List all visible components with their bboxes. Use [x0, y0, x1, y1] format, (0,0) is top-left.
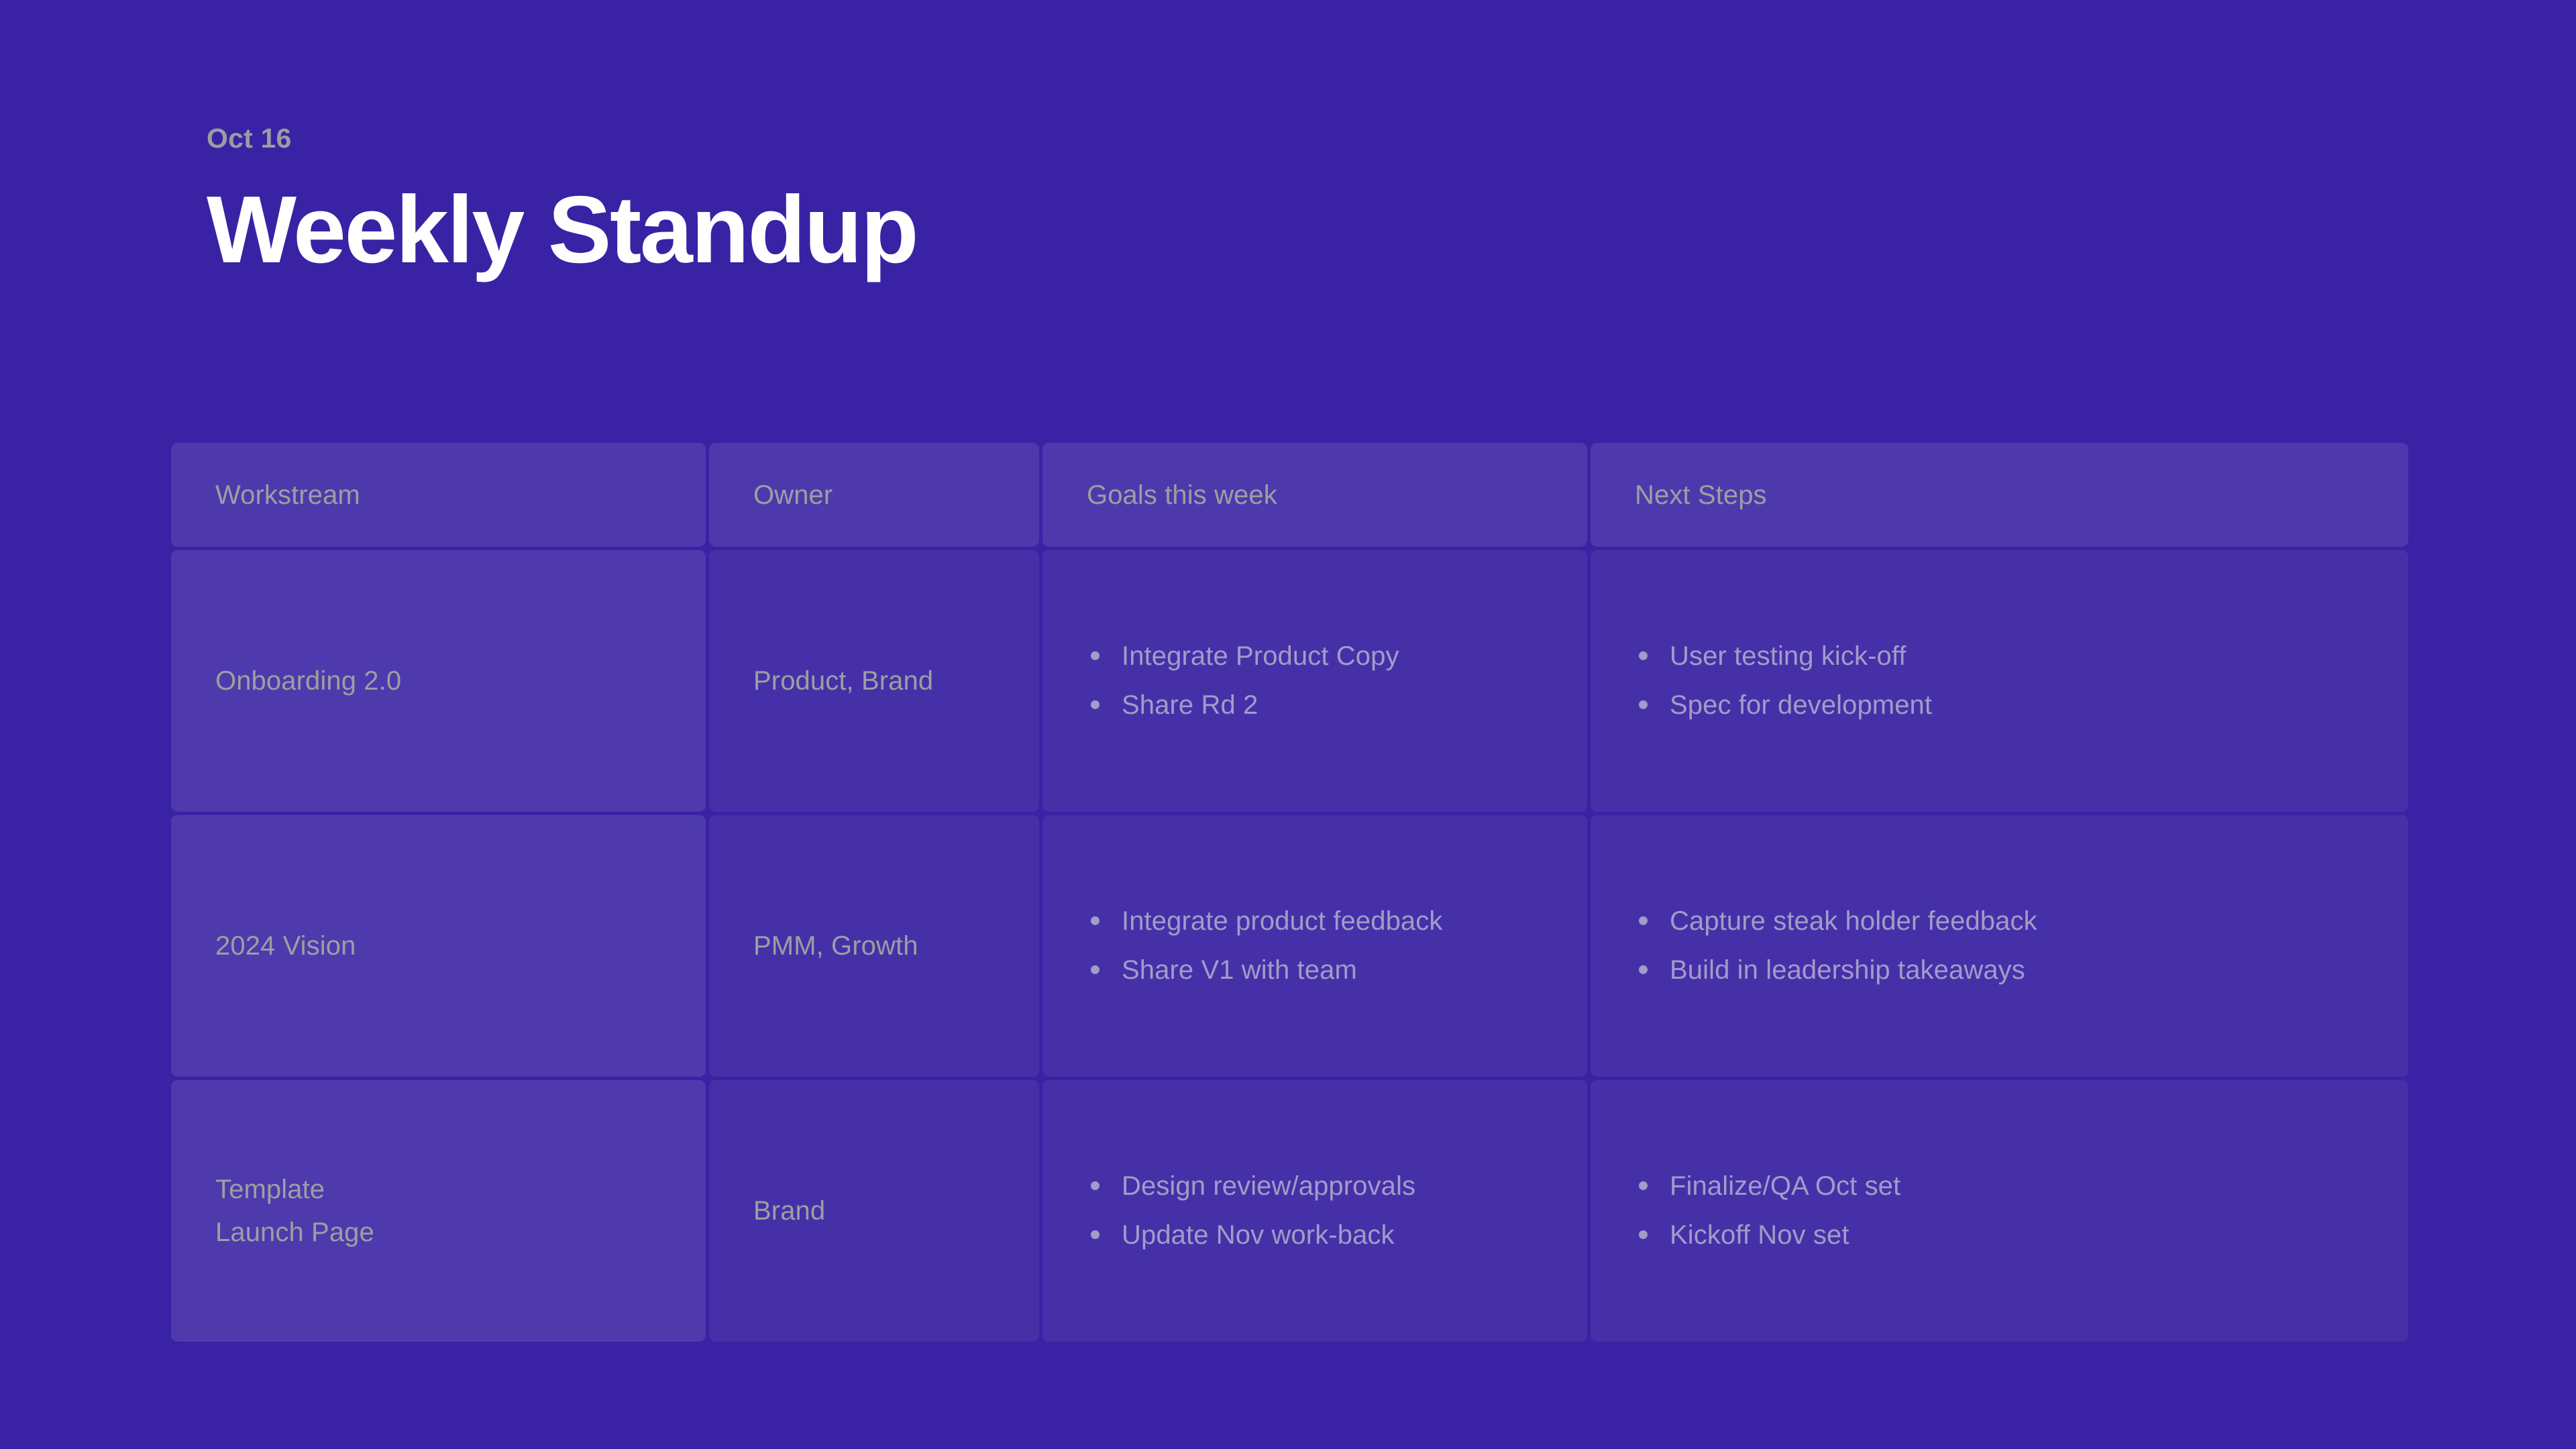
column-header-label: Workstream — [215, 479, 661, 511]
next-steps-list: Finalize/QA Oct set Kickoff Nov set — [1635, 1171, 2364, 1251]
owner-name: Product, Brand — [753, 659, 995, 702]
column-header-label: Owner — [753, 479, 995, 511]
cell-owner: Brand — [709, 1080, 1039, 1342]
owner-name: Brand — [753, 1189, 995, 1232]
table-row: Template Launch Page Brand Design review… — [171, 1080, 2408, 1342]
table-row: 2024 Vision PMM, Growth Integrate produc… — [171, 815, 2408, 1077]
column-header-label: Next Steps — [1635, 479, 2364, 511]
workstream-name: 2024 Vision — [215, 924, 661, 967]
cell-workstream: Onboarding 2.0 — [171, 550, 706, 812]
column-header-label: Goals this week — [1087, 479, 1543, 511]
goals-list: Integrate product feedback Share V1 with… — [1087, 906, 1543, 986]
column-header-next-steps: Next Steps — [1591, 443, 2408, 547]
cell-owner: PMM, Growth — [709, 815, 1039, 1077]
cell-next-steps: Capture steak holder feedback Build in l… — [1591, 815, 2408, 1077]
cell-workstream: 2024 Vision — [171, 815, 706, 1077]
cell-next-steps: Finalize/QA Oct set Kickoff Nov set — [1591, 1080, 2408, 1342]
column-header-goals: Goals this week — [1042, 443, 1587, 547]
list-item: Update Nov work-back — [1087, 1220, 1543, 1251]
list-item: Share Rd 2 — [1087, 690, 1543, 721]
column-header-workstream: Workstream — [171, 443, 706, 547]
slide-canvas: Oct 16 Weekly Standup Workstream Owner G… — [0, 0, 2576, 1449]
next-steps-list: Capture steak holder feedback Build in l… — [1635, 906, 2364, 986]
cell-next-steps: User testing kick-off Spec for developme… — [1591, 550, 2408, 812]
list-item: Integrate product feedback — [1087, 906, 1543, 937]
cell-goals: Design review/approvals Update Nov work-… — [1042, 1080, 1587, 1342]
table-header-row: Workstream Owner Goals this week Next St… — [171, 443, 2408, 547]
cell-owner: Product, Brand — [709, 550, 1039, 812]
list-item: Capture steak holder feedback — [1635, 906, 2364, 937]
slide-header: Oct 16 Weekly Standup — [207, 125, 1951, 279]
list-item: Integrate Product Copy — [1087, 641, 1543, 672]
table-row: Onboarding 2.0 Product, Brand Integrate … — [171, 550, 2408, 812]
standup-table: Workstream Owner Goals this week Next St… — [171, 443, 2408, 1342]
list-item: User testing kick-off — [1635, 641, 2364, 672]
list-item: Share V1 with team — [1087, 955, 1543, 986]
list-item: Finalize/QA Oct set — [1635, 1171, 2364, 1202]
next-steps-list: User testing kick-off Spec for developme… — [1635, 641, 2364, 721]
goals-list: Design review/approvals Update Nov work-… — [1087, 1171, 1543, 1251]
workstream-name: Template Launch Page — [215, 1168, 661, 1254]
cell-goals: Integrate product feedback Share V1 with… — [1042, 815, 1587, 1077]
cell-goals: Integrate Product Copy Share Rd 2 — [1042, 550, 1587, 812]
list-item: Design review/approvals — [1087, 1171, 1543, 1202]
slide-date: Oct 16 — [207, 125, 1951, 152]
column-header-owner: Owner — [709, 443, 1039, 547]
owner-name: PMM, Growth — [753, 924, 995, 967]
page-title: Weekly Standup — [207, 182, 1951, 279]
goals-list: Integrate Product Copy Share Rd 2 — [1087, 641, 1543, 721]
list-item: Build in leadership takeaways — [1635, 955, 2364, 986]
workstream-name: Onboarding 2.0 — [215, 659, 661, 702]
list-item: Kickoff Nov set — [1635, 1220, 2364, 1251]
cell-workstream: Template Launch Page — [171, 1080, 706, 1342]
list-item: Spec for development — [1635, 690, 2364, 721]
